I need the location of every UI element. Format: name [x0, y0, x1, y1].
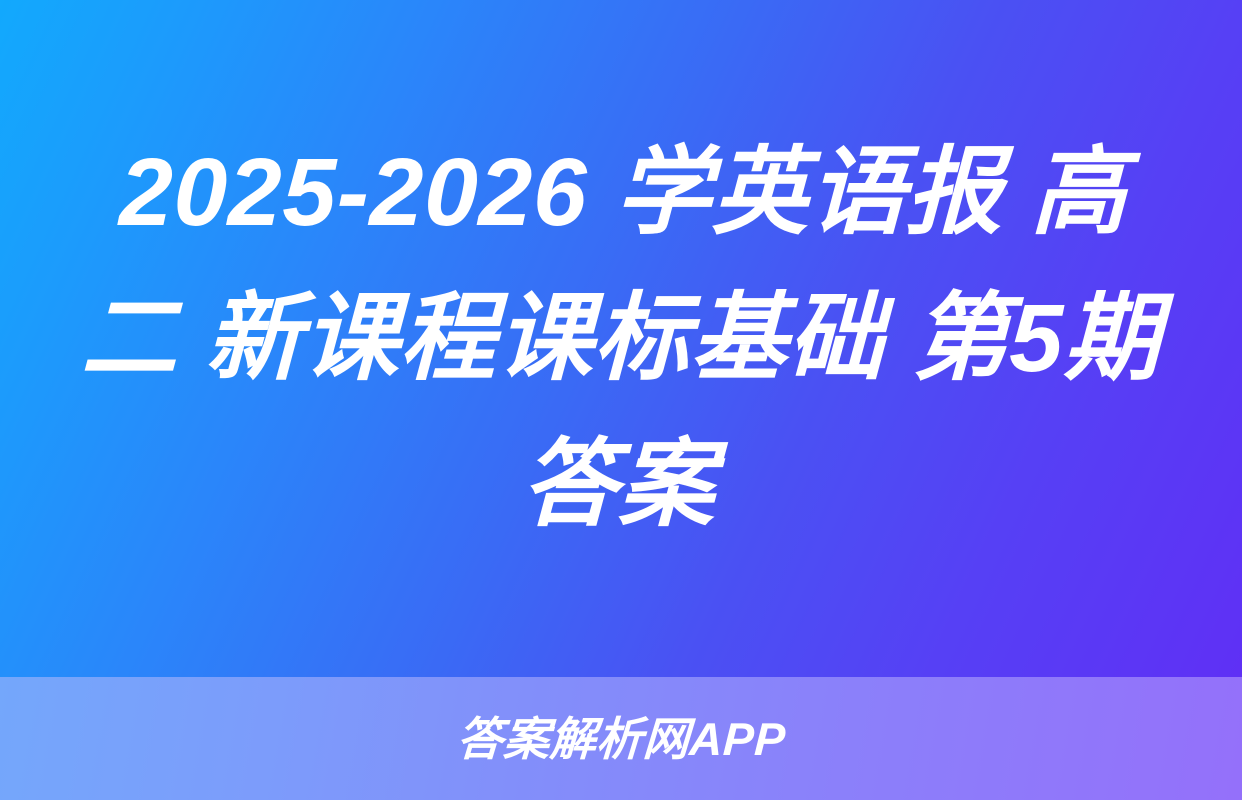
app-brand-label: 答案解析网APP: [455, 716, 786, 762]
footer-brand-band: 答案解析网APP: [0, 677, 1242, 800]
page-title: 2025-2026 学英语报 高二 新课程课标基础 第5期答案: [66, 120, 1176, 558]
title-block: 2025-2026 学英语报 高二 新课程课标基础 第5期答案: [56, 120, 1186, 558]
answer-poster-banner: 2025-2026 学英语报 高二 新课程课标基础 第5期答案 答案解析网APP: [0, 0, 1242, 800]
hero-gradient-panel: 2025-2026 学英语报 高二 新课程课标基础 第5期答案: [0, 0, 1242, 677]
